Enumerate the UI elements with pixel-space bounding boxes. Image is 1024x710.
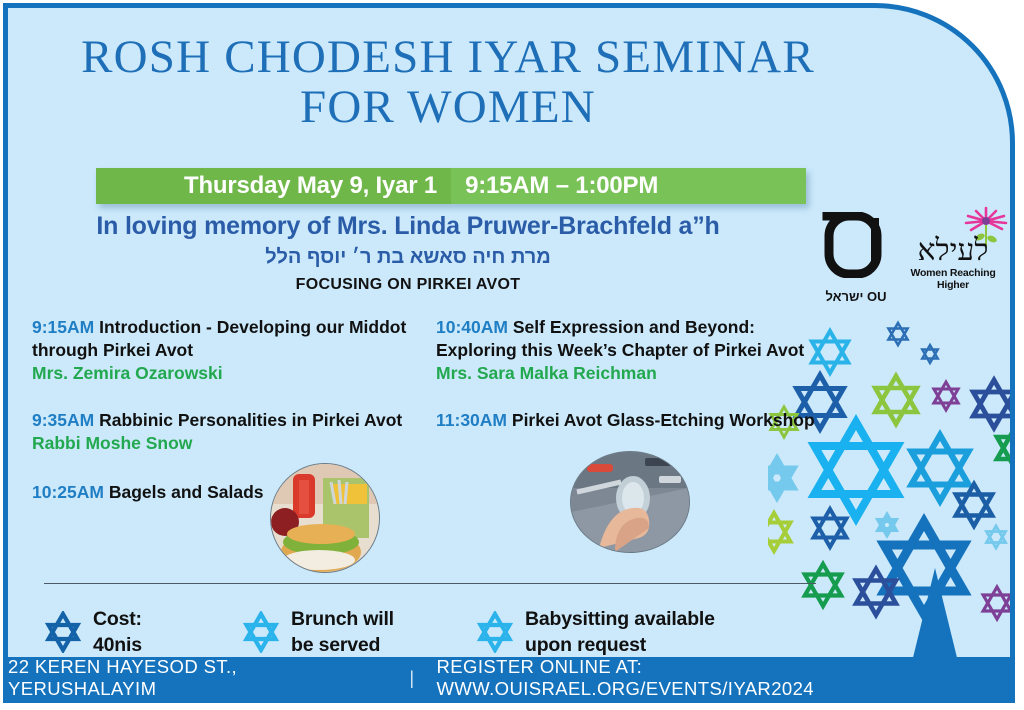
star-of-david-icon xyxy=(768,513,790,551)
star-of-david-icon xyxy=(474,611,516,653)
star-of-david-icon xyxy=(986,526,1005,548)
star-of-david-icon xyxy=(856,569,896,615)
star-of-david-icon xyxy=(875,376,917,424)
schedule-item-time: 9:35AM xyxy=(32,410,94,430)
info-item-cost: Cost: 40nis xyxy=(42,606,142,658)
ou-israel-logo: OU ישראל xyxy=(813,212,899,304)
date-time-banner: Thursday May 9, Iyar 1 9:15AM – 1:00PM xyxy=(96,168,806,204)
dedication-hebrew: מרת חיה סאשא בת ר׳ יוסף הלל xyxy=(8,246,808,269)
schedule-item: 9:35AM Rabbinic Personalities in Pirkei … xyxy=(32,409,424,455)
info-item-text: Cost: 40nis xyxy=(93,606,142,658)
ou-logo-icon xyxy=(817,212,895,278)
footer-address: 22 KEREN HAYESOD ST., YERUSHALAYIM xyxy=(8,656,387,700)
star-of-david-icon xyxy=(888,323,907,345)
info-item-text: Brunch will be served xyxy=(291,606,394,658)
schedule-item-title: Pirkei Avot Glass-Etching Workshop xyxy=(512,410,815,430)
star-of-david-icon xyxy=(42,611,84,653)
footer-bar: 22 KEREN HAYESOD ST., YERUSHALAYIM | REG… xyxy=(8,657,1015,698)
poster-card: ROSH CHODESH IYAR SEMINAR FOR WOMEN Thur… xyxy=(3,3,1015,703)
footer-separator: | xyxy=(409,667,414,689)
glass-etching-photo xyxy=(570,451,690,553)
leila-logo-hebrew: לעילא xyxy=(901,236,1005,266)
schedule-item-title: Rabbinic Personalities in Pirkei Avot xyxy=(99,410,402,430)
ou-logo-subtitle: OU ישראל xyxy=(813,289,899,304)
schedule-column-right: 10:40AM Self Expression and Beyond: Expl… xyxy=(436,316,828,448)
schedule-item-line: 11:30AM Pirkei Avot Glass-Etching Worksh… xyxy=(436,409,828,432)
glass-etching-image xyxy=(571,452,689,552)
info-item-line-2: be served xyxy=(291,632,394,658)
schedule-item-time: 11:30AM xyxy=(436,410,507,430)
food-photo-image xyxy=(271,464,379,572)
schedule-item-time: 10:40AM xyxy=(436,317,508,337)
star-of-david-icon xyxy=(997,426,1015,470)
title-line-2: FOR WOMEN xyxy=(8,82,888,132)
focus-subtitle: FOCUSING ON PIRKEI AVOT xyxy=(8,276,808,294)
schedule-item-speaker: Mrs. Sara Malka Reichman xyxy=(436,362,828,385)
info-item-line-1: Babysitting available xyxy=(525,606,715,632)
schedule-item-title: Bagels and Salads xyxy=(109,482,264,502)
star-of-david-icon xyxy=(911,435,968,501)
poster-canvas: ROSH CHODESH IYAR SEMINAR FOR WOMEN Thur… xyxy=(0,0,1024,710)
star-of-david-icon xyxy=(240,611,282,653)
footer-register-link[interactable]: REGISTER ONLINE AT: WWW.OUISRAEL.ORG/EVE… xyxy=(437,656,1015,700)
schedule-item: 9:15AM Introduction - Developing our Mid… xyxy=(32,316,424,385)
star-of-david-icon xyxy=(805,564,841,606)
info-item-line-2: upon request xyxy=(525,632,715,658)
info-item-line-1: Brunch will xyxy=(291,606,394,632)
bagels-and-salads-photo xyxy=(270,463,380,573)
banner-date: Thursday May 9, Iyar 1 xyxy=(96,168,451,204)
star-of-david-icon xyxy=(956,484,992,526)
title-line-1: ROSH CHODESH IYAR SEMINAR xyxy=(81,31,815,83)
page-title: ROSH CHODESH IYAR SEMINAR FOR WOMEN xyxy=(8,32,888,132)
star-of-david-icon xyxy=(768,462,791,494)
info-item-line-2: 40nis xyxy=(93,632,142,658)
star-of-david-icon xyxy=(814,509,847,547)
star-of-david-icon xyxy=(983,587,1011,619)
info-item-text: Babysitting available upon request xyxy=(525,606,715,658)
banner-time: 9:15AM – 1:00PM xyxy=(451,168,806,204)
schedule-item-time: 9:15AM xyxy=(32,317,94,337)
schedule-item-line: 9:35AM Rabbinic Personalities in Pirkei … xyxy=(32,409,424,432)
dedication-english: In loving memory of Mrs. Linda Pruwer-Br… xyxy=(8,212,808,241)
info-item-babysitting: Babysitting available upon request xyxy=(474,606,715,658)
info-item-line-1: Cost: xyxy=(93,606,142,632)
star-of-david-icon xyxy=(973,380,1015,428)
leila-logo: לעילא Women Reaching Higher xyxy=(901,236,1005,291)
schedule-item: 11:30AM Pirkei Avot Glass-Etching Worksh… xyxy=(436,409,828,432)
schedule-item-time: 10:25AM xyxy=(32,482,104,502)
ou-logo-mark xyxy=(813,212,899,287)
section-divider xyxy=(44,583,816,584)
star-of-david-icon xyxy=(879,516,895,534)
schedule-item-line: 9:15AM Introduction - Developing our Mid… xyxy=(32,316,424,362)
schedule-item-speaker: Mrs. Zemira Ozarowski xyxy=(32,362,424,385)
schedule-item-speaker: Rabbi Moshe Snow xyxy=(32,432,424,455)
star-of-david-icon xyxy=(922,345,938,363)
star-of-david-icon xyxy=(934,382,958,410)
schedule-item-line: 10:40AM Self Expression and Beyond: Expl… xyxy=(436,316,828,362)
leila-logo-subtitle: Women Reaching Higher xyxy=(901,267,1005,291)
info-item-brunch: Brunch will be served xyxy=(240,606,394,658)
schedule-item: 10:40AM Self Expression and Beyond: Expl… xyxy=(436,316,828,385)
